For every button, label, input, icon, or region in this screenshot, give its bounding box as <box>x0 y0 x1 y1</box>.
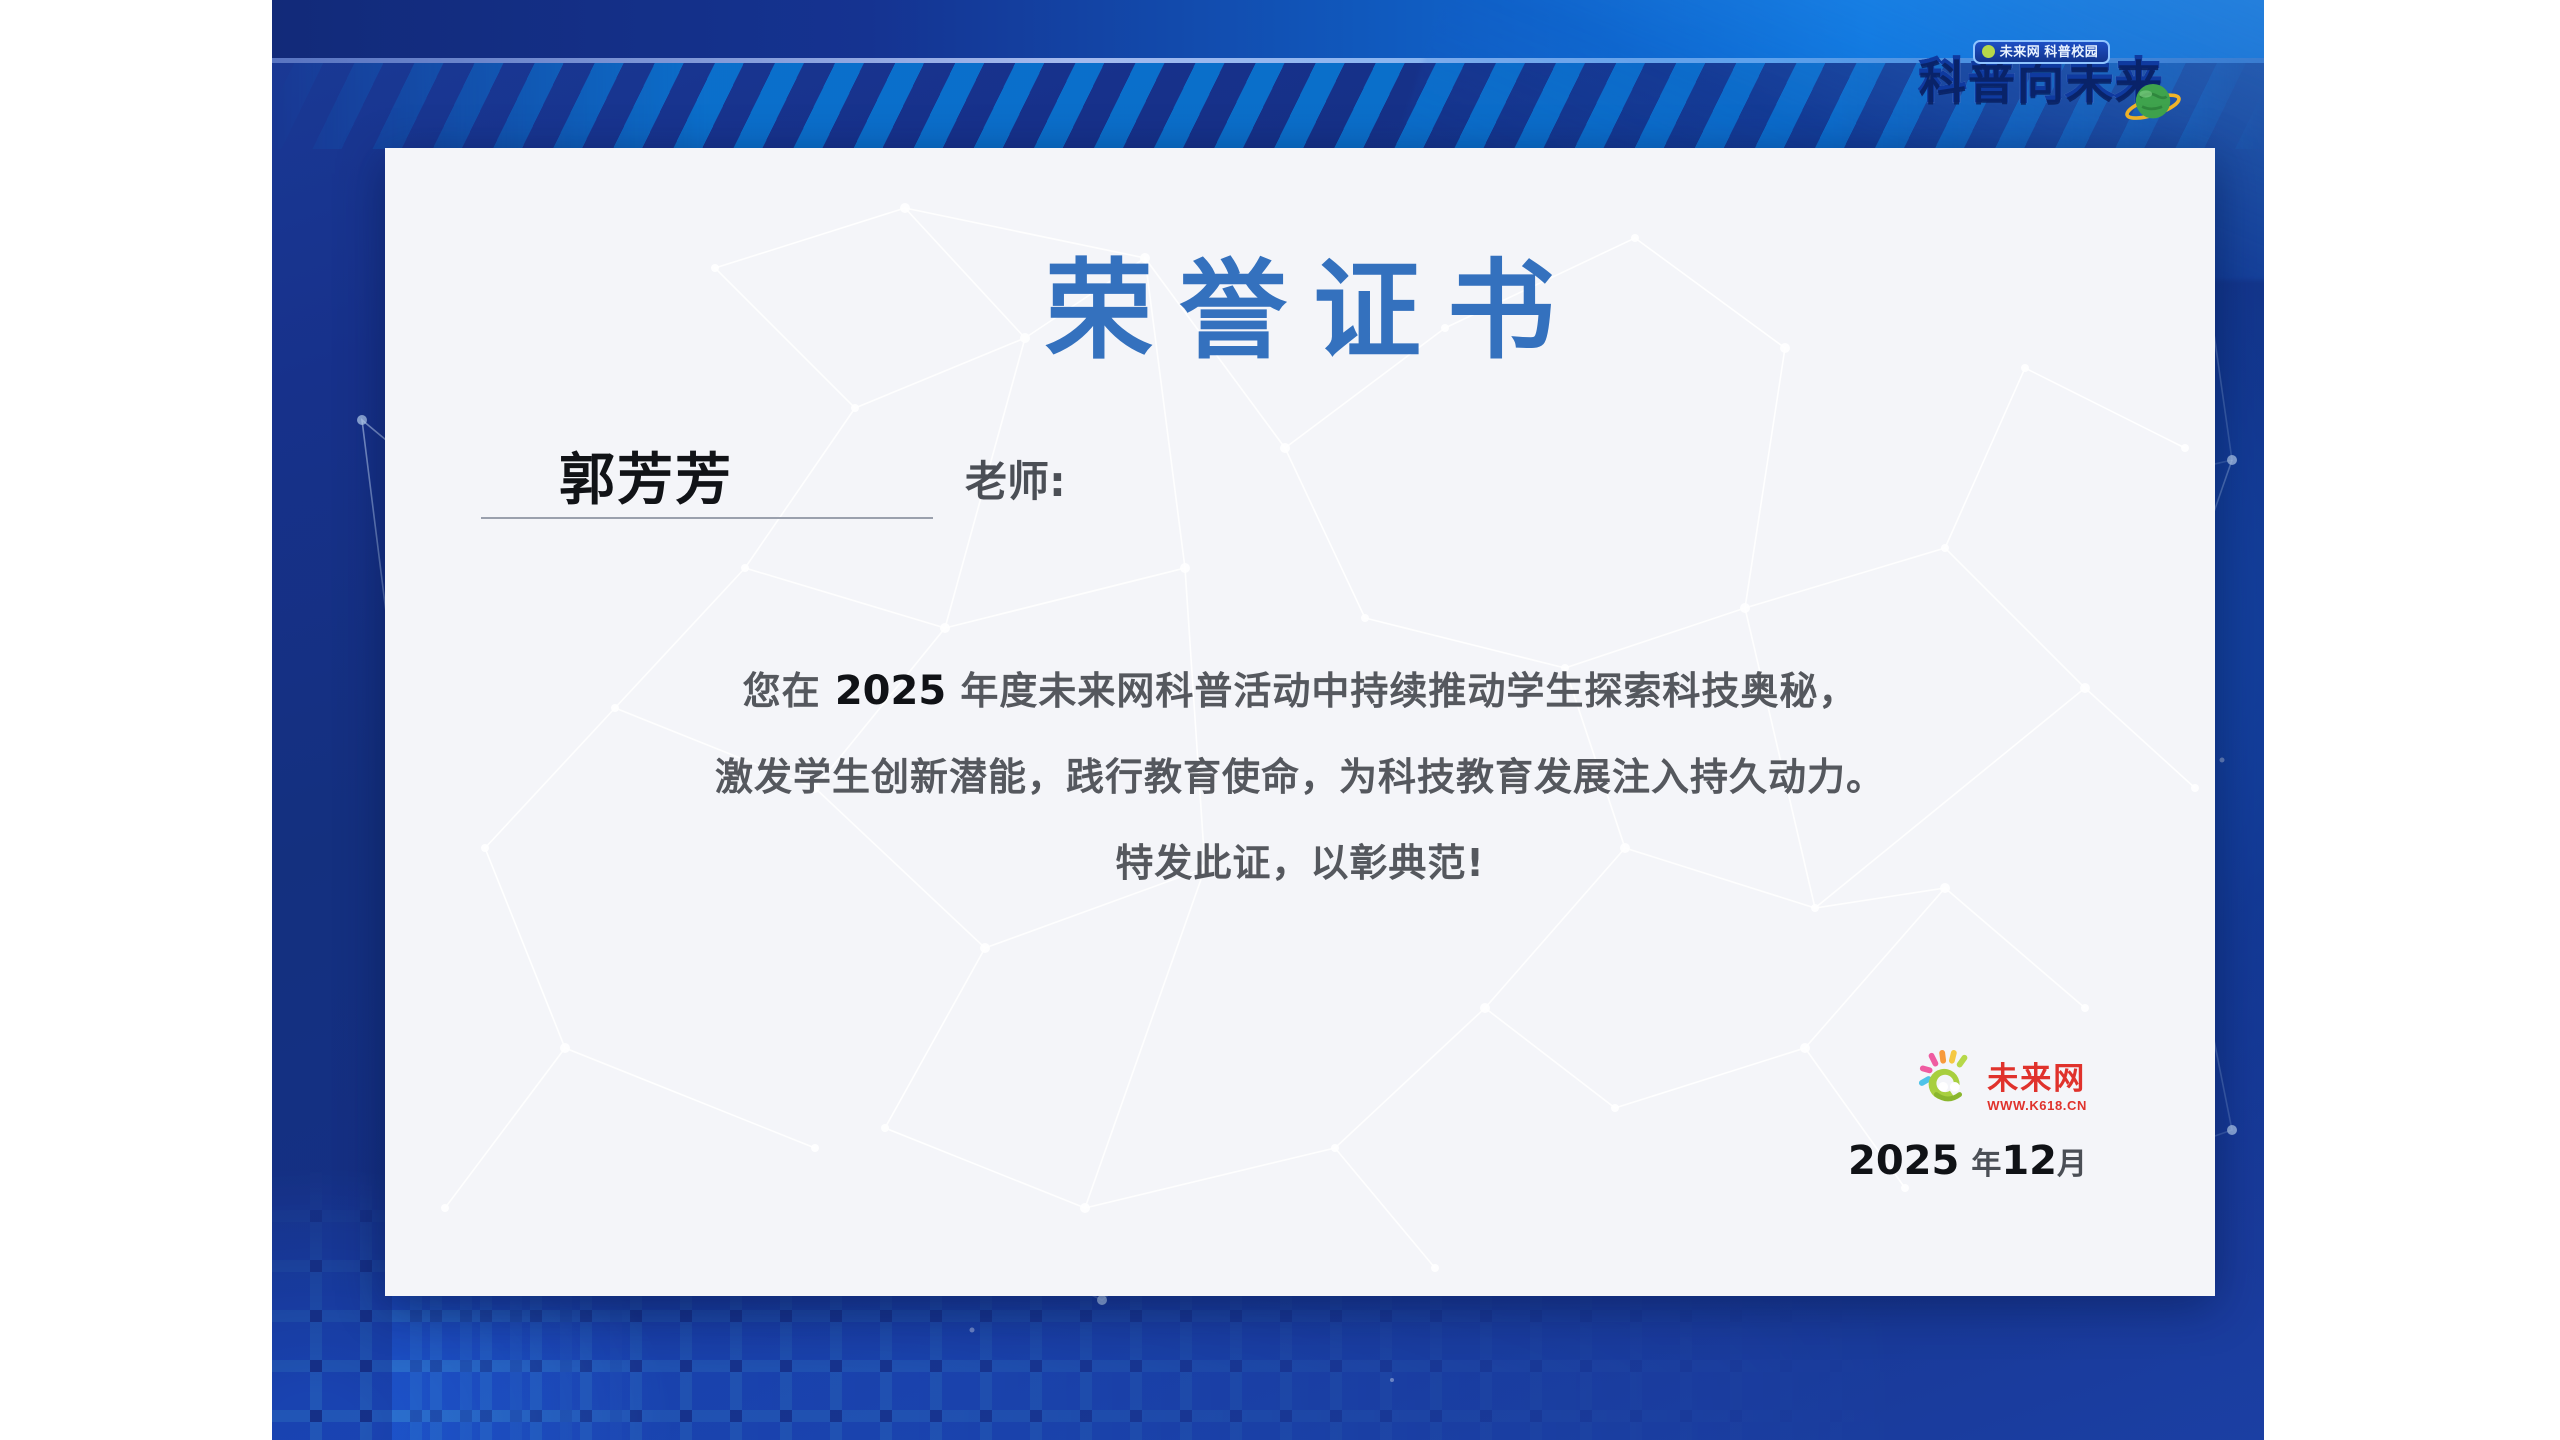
body-line-3: 特发此证，以彰典范! <box>505 820 2095 906</box>
page-title: 荣誉证书 <box>385 258 2215 366</box>
body-line-2: 激发学生创新潜能，践行教育使命，为科技教育发展注入持久动力。 <box>505 734 2095 820</box>
certificate-body-text: 您在 2025 年度未来网科普活动中持续推动学生探索科技奥秘， 激发学生创新潜能… <box>505 648 2095 906</box>
future-net-e-icon <box>1982 45 1995 58</box>
body-line-1: 您在 2025 年度未来网科普活动中持续推动学生探索科技奥秘， <box>505 648 2095 734</box>
issue-date-year: 2025 <box>1848 1138 1959 1184</box>
issuer-name: 未来网 <box>1987 1064 2087 1095</box>
recipient-role-label: 老师: <box>965 448 1066 519</box>
right-white-gutter <box>2264 0 2560 1440</box>
issuer-logo: 未来网 WWW.K618.CN <box>1848 1050 2087 1112</box>
signature-block: 未来网 WWW.K618.CN 2025年12月 <box>1848 1050 2087 1184</box>
certificate-canvas: 未来网 科普校园 科普向未来 <box>0 0 2560 1440</box>
issue-date-month-label: 月 <box>2057 1147 2087 1182</box>
green-planet-icon <box>2124 74 2182 132</box>
body-line-1-year: 2025 <box>835 668 946 714</box>
recipient-name: 郭芳芳 <box>559 452 933 511</box>
left-white-gutter <box>0 0 272 1440</box>
campaign-badge: 未来网 科普校园 <box>1973 40 2111 64</box>
body-line-1-suffix: 年度未来网科普活动中持续推动学生探索科技奥秘， <box>960 669 1857 713</box>
body-line-1-prefix: 您在 <box>743 669 821 713</box>
future-net-sun-e-icon <box>1917 1050 1979 1112</box>
certificate-card: 荣誉证书 郭芳芳 老师: 您在 2025 年度未来网科普活动中持续推动学生探索科… <box>385 148 2215 1296</box>
campaign-logo: 未来网 科普校园 科普向未来 <box>1919 40 2164 105</box>
issue-date: 2025年12月 <box>1848 1138 2087 1184</box>
issue-date-year-label: 年 <box>1971 1147 2001 1182</box>
issuer-url: WWW.K618.CN <box>1987 1099 2087 1112</box>
issue-date-month: 12 <box>2001 1138 2057 1184</box>
recipient-row: 郭芳芳 老师: <box>481 448 1066 519</box>
campaign-badge-label: 未来网 科普校园 <box>2000 45 2099 58</box>
recipient-name-field[interactable]: 郭芳芳 <box>481 452 933 519</box>
